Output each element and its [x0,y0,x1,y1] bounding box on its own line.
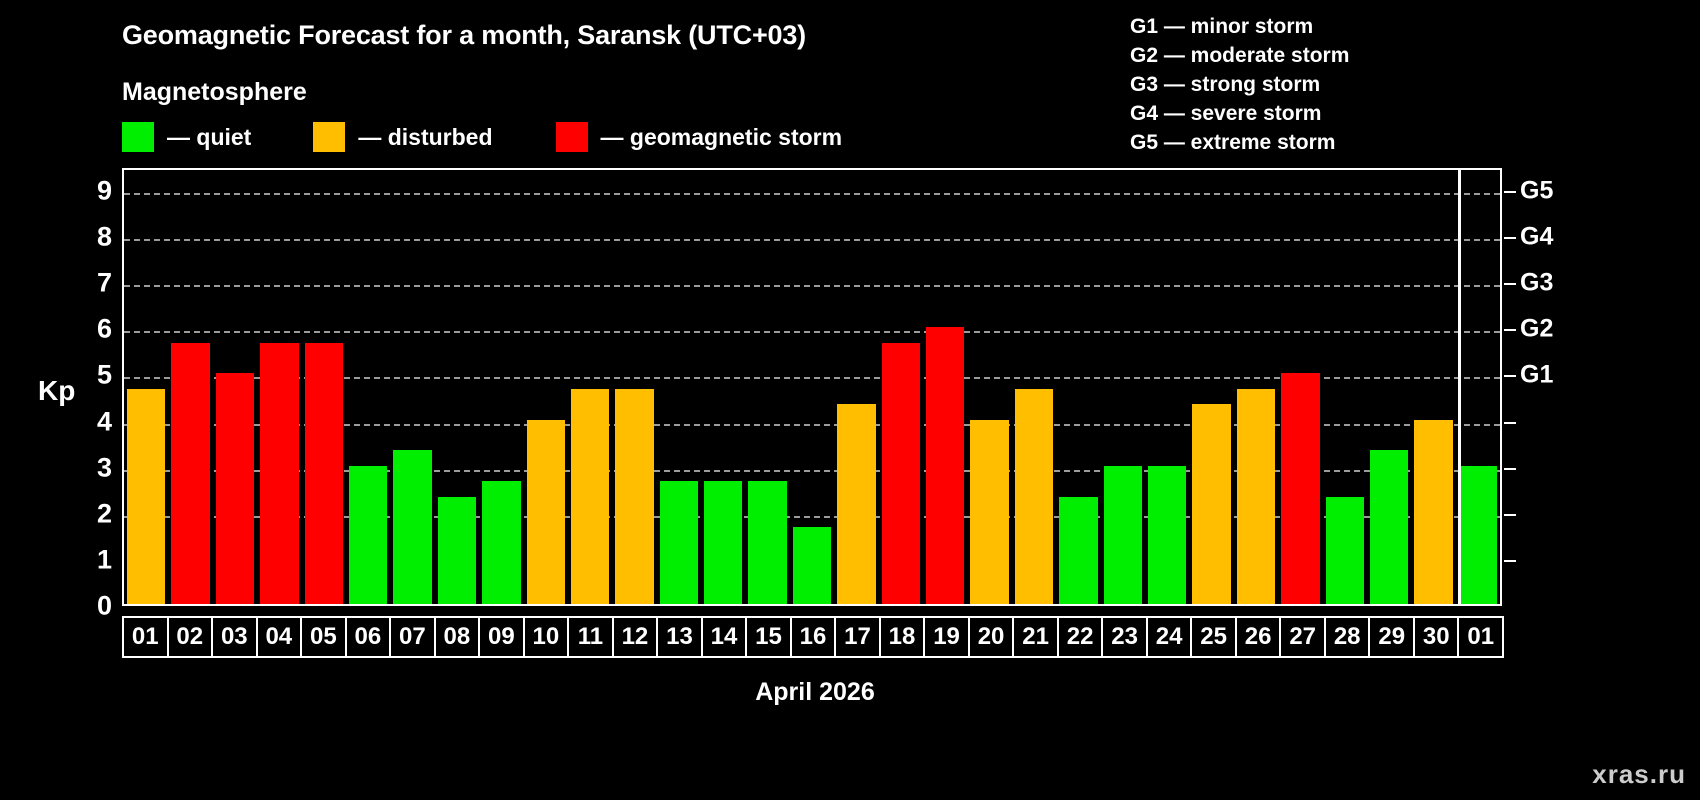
day-label[interactable]: 03 [211,616,258,658]
bar-cell[interactable] [1012,170,1056,604]
g-axis-minor-tick-mark [1504,514,1516,516]
bar[interactable] [1459,466,1497,604]
g-axis-tick-mark [1504,191,1516,193]
legend-swatch-storm [556,122,588,152]
g-axis-tick-label: G3 [1520,269,1553,298]
bar[interactable] [1281,373,1319,604]
bar[interactable] [793,527,831,604]
y-axis-tick-label: 3 [72,452,112,483]
legend-item: — geomagnetic storm [556,122,843,152]
day-label[interactable]: 16 [790,616,837,658]
bar[interactable] [1414,420,1452,604]
legend-label: — quiet [167,124,251,151]
bar-cell[interactable] [967,170,1011,604]
g-axis-tick-label: G1 [1520,361,1553,390]
bar-cell[interactable] [923,170,967,604]
bar[interactable] [1192,404,1230,604]
legend-label: — geomagnetic storm [601,124,843,151]
day-label[interactable]: 21 [1012,616,1059,658]
bar-cell[interactable] [1234,170,1278,604]
day-label[interactable]: 11 [567,616,614,658]
y-axis-tick-label: 6 [72,314,112,345]
bar-cell[interactable] [213,170,257,604]
day-label[interactable]: 17 [834,616,881,658]
bar-cell[interactable] [257,170,301,604]
bar[interactable] [1237,389,1275,604]
g-scale-key-row: G3 — strong storm [1130,70,1349,99]
day-label[interactable]: 18 [879,616,926,658]
bar[interactable] [1015,389,1053,604]
legend-swatch-quiet [122,122,154,152]
day-label[interactable]: 15 [745,616,792,658]
bar-cell[interactable] [168,170,212,604]
bar[interactable] [216,373,254,604]
bar-cell[interactable] [1056,170,1100,604]
bar[interactable] [349,466,387,604]
bar-series [124,170,1500,604]
bar-cell[interactable] [346,170,390,604]
day-label[interactable]: 12 [612,616,659,658]
y-axis-tick-label: 1 [72,544,112,575]
legend-swatch-disturbed [313,122,345,152]
x-axis-title: April 2026 [0,678,1630,707]
magnetosphere-legend: — quiet— disturbed— geomagnetic storm [122,122,842,152]
day-label[interactable]: 23 [1101,616,1148,658]
watermark: xras.ru [1592,759,1686,790]
bar-cell[interactable] [879,170,923,604]
day-label[interactable]: 28 [1324,616,1371,658]
day-label[interactable]: 14 [701,616,748,658]
day-label[interactable]: 19 [923,616,970,658]
bar[interactable] [482,481,520,604]
legend-item: — disturbed [313,122,492,152]
bar-cell[interactable] [1101,170,1145,604]
y-axis-tick-label: 0 [72,591,112,622]
g-axis-tick-label: G5 [1520,177,1553,206]
y-axis-tick-label: 4 [72,406,112,437]
g-axis-tick-mark [1504,283,1516,285]
bar-cell[interactable] [1411,170,1455,604]
y-axis-title: Kp [38,375,75,407]
month-boundary-line [1458,170,1461,604]
bar[interactable] [1326,497,1364,604]
day-label[interactable]: 10 [523,616,570,658]
bar-cell[interactable] [1145,170,1189,604]
bar-cell[interactable] [390,170,434,604]
g-axis-tick-label: G4 [1520,223,1553,252]
chart-page: Geomagnetic Forecast for a month, Sarans… [0,0,1700,800]
g-scale-key-row: G4 — severe storm [1130,99,1349,128]
bar-cell[interactable] [657,170,701,604]
bar-cell[interactable] [302,170,346,604]
g-axis-tick-mark [1504,375,1516,377]
bar[interactable] [260,343,298,604]
legend-label: — disturbed [358,124,492,151]
bar[interactable] [527,420,565,604]
bar[interactable] [615,389,653,604]
day-label[interactable]: 27 [1279,616,1326,658]
day-label[interactable]: 26 [1235,616,1282,658]
bar[interactable] [970,420,1008,604]
bar-cell[interactable] [1189,170,1233,604]
bar-cell[interactable] [834,170,878,604]
bar[interactable] [1370,450,1408,604]
bar[interactable] [305,343,343,604]
bar[interactable] [393,450,431,604]
day-label[interactable]: 05 [300,616,347,658]
g-axis-tick-mark [1504,329,1516,331]
bar[interactable] [127,389,165,604]
bar-cell[interactable] [1456,170,1500,604]
day-label[interactable]: 07 [389,616,436,658]
x-axis-day-labels: 0102030405060708091011121314151617181920… [122,616,1502,658]
g-axis-minor-tick-mark [1504,422,1516,424]
day-label[interactable]: 02 [167,616,214,658]
bar-cell[interactable] [745,170,789,604]
bar[interactable] [926,327,964,604]
g-axis-minor-tick-mark [1504,468,1516,470]
g-axis-tick-label: G2 [1520,315,1553,344]
bar-cell[interactable] [790,170,834,604]
y-axis-tick-label: 9 [72,176,112,207]
bar[interactable] [704,481,742,604]
bar-cell[interactable] [1323,170,1367,604]
legend-item: — quiet [122,122,251,152]
day-label[interactable]: 22 [1057,616,1104,658]
g-scale-key-row: G2 — moderate storm [1130,41,1349,70]
y-axis-tick-label: 2 [72,498,112,529]
day-label[interactable]: 04 [256,616,303,658]
y-axis-tick-label: 5 [72,360,112,391]
day-label[interactable]: 13 [656,616,703,658]
day-label[interactable]: 01 [122,616,169,658]
bar[interactable] [660,481,698,604]
bar-cell[interactable] [612,170,656,604]
g-scale-key-row: G5 — extreme storm [1130,128,1349,157]
day-label[interactable]: 30 [1413,616,1460,658]
day-label[interactable]: 29 [1368,616,1415,658]
y-axis-tick-label: 8 [72,222,112,253]
day-label[interactable]: 08 [434,616,481,658]
bar[interactable] [748,481,786,604]
bar[interactable] [171,343,209,604]
bar-cell[interactable] [124,170,168,604]
bar[interactable] [438,497,476,604]
bar[interactable] [837,404,875,604]
bar[interactable] [1104,466,1142,604]
day-label[interactable]: 01 [1457,616,1504,658]
g-axis-minor-tick-mark [1504,560,1516,562]
bar-cell[interactable] [479,170,523,604]
chart-subtitle: Magnetosphere [122,78,307,107]
bar-cell[interactable] [701,170,745,604]
bar-cell[interactable] [435,170,479,604]
bar-cell[interactable] [524,170,568,604]
day-label[interactable]: 25 [1190,616,1237,658]
g-scale-key: G1 — minor stormG2 — moderate stormG3 — … [1130,12,1349,157]
bar-cell[interactable] [1367,170,1411,604]
bar-cell[interactable] [1278,170,1322,604]
g-axis-tick-mark [1504,237,1516,239]
bar-cell[interactable] [568,170,612,604]
bar[interactable] [1148,466,1186,604]
bar[interactable] [571,389,609,604]
g-scale-key-row: G1 — minor storm [1130,12,1349,41]
y-axis-tick-label: 7 [72,268,112,299]
plot-area [122,168,1502,606]
bar[interactable] [1059,497,1097,604]
day-label[interactable]: 06 [345,616,392,658]
bar[interactable] [882,343,920,604]
page-title: Geomagnetic Forecast for a month, Sarans… [122,20,806,51]
day-label[interactable]: 09 [478,616,525,658]
day-label[interactable]: 24 [1146,616,1193,658]
day-label[interactable]: 20 [968,616,1015,658]
